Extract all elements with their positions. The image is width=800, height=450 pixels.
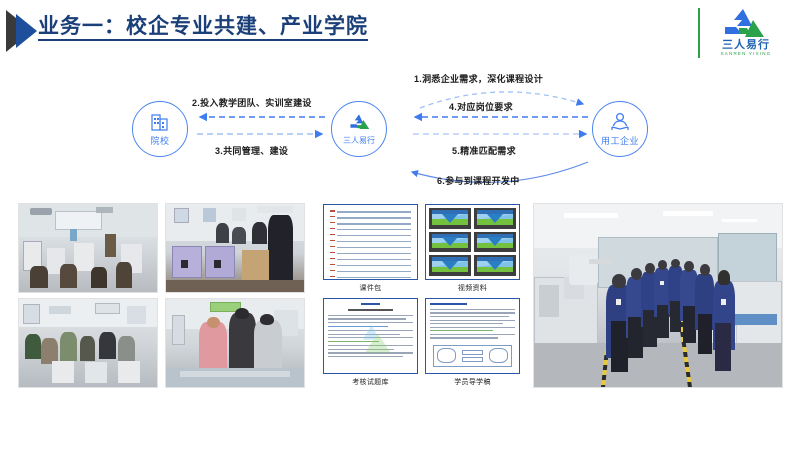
logo-cn-text: 三人易行 [706,39,786,51]
page-title: 业务一：校企专业共建、产业学院 [38,12,368,42]
logo-en-text: SANREN YIXING [706,51,786,57]
diagram-node-center[interactable]: 三人易行 [331,101,387,157]
building-icon [148,111,172,133]
logo-divider [698,8,700,58]
flow-label-2: 2.投入教学团队、实训室建设 [192,96,312,109]
photo-lab-equipment-demo [165,203,305,293]
slide-root: 业务一：校企专业共建、产业学院 三人易行 SANREN YIXING [0,0,800,450]
flow-label-5: 5.精准匹配需求 [452,144,516,157]
doc-thumb-exam-bank [323,298,418,374]
flow-label-3: 3.共同管理、建设 [215,144,288,157]
brand-logo: 三人易行 SANREN YIXING [698,6,788,62]
diagram-arrows [0,62,800,202]
doc-thumb-study-guide [425,298,520,374]
doc-caption-courseware: 课件包 [323,283,418,293]
gallery-section: 课件包 视频资料 [0,198,800,398]
diagram-node-school-label: 院校 [150,134,169,147]
flow-label-4: 4.对应岗位要求 [449,100,513,113]
relationship-diagram: 院校 三人易行 用工企业 2.投入教学团队、实训室建设 3.共同管理、建设 [0,62,800,202]
doc-caption-exam-bank: 考核试题库 [323,377,418,387]
slide-header: 业务一：校企专业共建、产业学院 [0,0,800,62]
diagram-node-school[interactable]: 院校 [132,101,188,157]
photo-workshop-students [18,298,158,388]
diagram-node-company[interactable]: 用工企业 [592,101,648,157]
flow-label-1: 1.洞悉企业需求，深化课程设计 [414,72,543,85]
diagram-node-center-label: 三人易行 [343,135,375,146]
flow-label-6: 6.参与到课程开发中 [437,174,520,187]
doc-thumb-courseware [323,204,418,280]
doc-caption-study-guide: 学员导学稿 [425,377,520,387]
sanren-logo-icon [347,112,371,134]
photo-instructor-training [165,298,305,388]
doc-thumb-video-material [425,204,520,280]
photo-classroom-lecture [18,203,158,293]
doc-caption-video-material: 视频资料 [425,283,520,293]
sanren-logo-icon [712,8,774,38]
diagram-node-company-label: 用工企业 [601,134,639,147]
person-reading-icon [608,111,632,133]
photo-team-lineup-lab [533,203,783,388]
